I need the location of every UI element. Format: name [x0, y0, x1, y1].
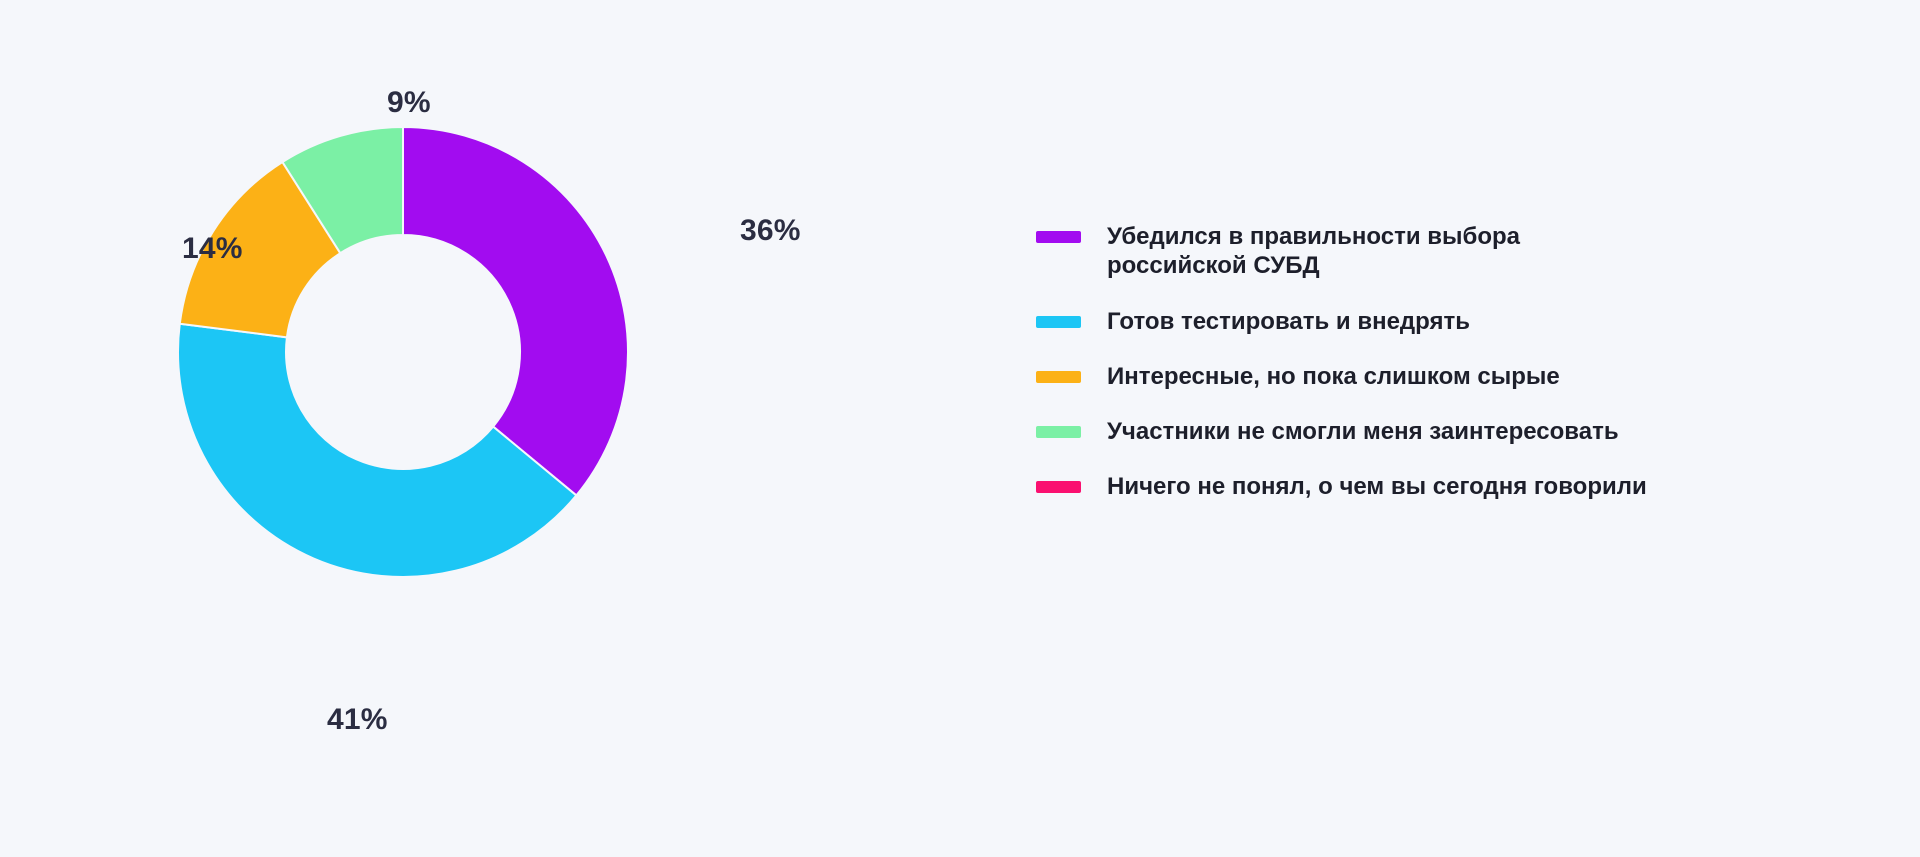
donut-slice-1[interactable] [178, 324, 576, 577]
legend-label-2: Интересные, но пока слишком сырые [1107, 362, 1560, 391]
legend-item-2[interactable]: Интересные, но пока слишком сырые [1036, 362, 1796, 391]
legend-item-0[interactable]: Убедился в правильности выбора российско… [1036, 222, 1796, 281]
chart-legend: Убедился в правильности выбора российско… [1036, 222, 1796, 502]
legend-item-3[interactable]: Участники не смогли меня заинтересовать [1036, 417, 1796, 446]
legend-swatch-green [1036, 426, 1081, 438]
legend-label-4: Ничего не понял, о чем вы сегодня говори… [1107, 472, 1647, 501]
legend-label-3: Участники не смогли меня заинтересовать [1107, 417, 1619, 446]
legend-swatch-pink [1036, 481, 1081, 493]
legend-label-1: Готов тестировать и внедрять [1107, 307, 1470, 336]
legend-item-4[interactable]: Ничего не понял, о чем вы сегодня говори… [1036, 472, 1796, 501]
slice-label-orange: 14% [182, 234, 243, 264]
donut-chart: 36% 41% 14% 9% [0, 0, 1010, 857]
legend-swatch-purple [1036, 231, 1081, 243]
legend-label-0: Убедился в правильности выбора российско… [1107, 222, 1520, 281]
legend-swatch-cyan [1036, 316, 1081, 328]
donut-slice-group [178, 127, 628, 577]
legend-item-1[interactable]: Готов тестировать и внедрять [1036, 307, 1796, 336]
chart-page: 36% 41% 14% 9% Убедился в правильности в… [0, 0, 1920, 857]
legend-swatch-orange [1036, 371, 1081, 383]
slice-label-green: 9% [387, 88, 431, 118]
donut-slice-0[interactable] [403, 127, 628, 495]
slice-label-cyan: 41% [327, 705, 388, 735]
slice-label-purple: 36% [740, 216, 801, 246]
donut-chart-svg [0, 0, 1010, 857]
